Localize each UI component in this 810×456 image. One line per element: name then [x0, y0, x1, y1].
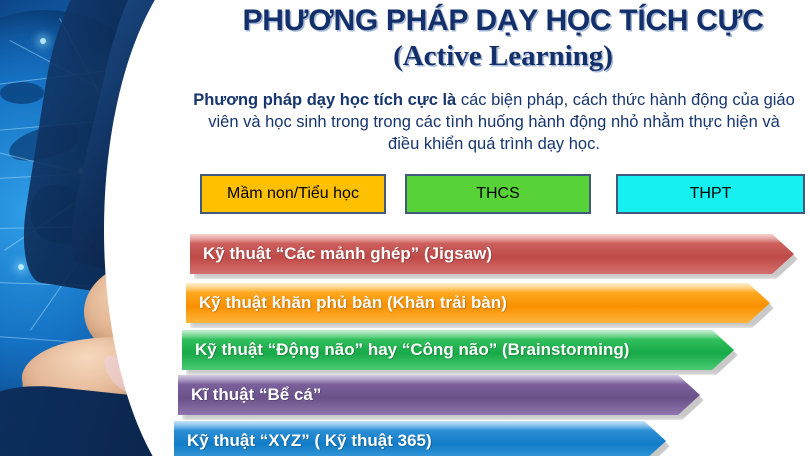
- level-box-label: Mầm non/Tiểu học: [227, 185, 359, 203]
- technique-arrow-jigsaw[interactable]: Kỹ thuật “Các mảnh ghép” (Jigsaw): [190, 234, 794, 274]
- level-box-thpt[interactable]: THPT: [616, 174, 805, 214]
- technique-arrow-be-ca[interactable]: Kĩ thuật “Bể cá”: [178, 375, 700, 415]
- level-box-mam-non-tieu-hoc[interactable]: Mầm non/Tiểu học: [200, 174, 386, 214]
- technique-arrow-xyz[interactable]: Kỹ thuật “XYZ” ( Kỹ thuật 365): [174, 421, 666, 456]
- landmass-shape: [0, 82, 44, 104]
- page-title: PHƯƠNG PHÁP DẠY HỌC TÍCH CỰC: [196, 4, 810, 38]
- technique-arrow-label: Kỹ thuật khăn phủ bàn (Khăn trải bàn): [199, 293, 507, 313]
- technique-arrow-label: Kĩ thuật “Bể cá”: [191, 385, 321, 405]
- page-subtitle: (Active Learning): [196, 40, 810, 72]
- slide-canvas: PHƯƠNG PHÁP DẠY HỌC TÍCH CỰC (Active Lea…: [0, 0, 810, 456]
- network-node: [18, 264, 24, 270]
- technique-arrow-label: Kỹ thuật “XYZ” ( Kỹ thuật 365): [187, 431, 432, 451]
- globe-handshake-photo: [0, 0, 196, 456]
- technique-arrow-label: Kỹ thuật “Động não” hay “Công não” (Brai…: [195, 340, 629, 360]
- level-box-label: THCS: [476, 185, 520, 203]
- level-box-thcs[interactable]: THCS: [405, 174, 591, 214]
- technique-arrow-label: Kỹ thuật “Các mảnh ghép” (Jigsaw): [203, 244, 492, 264]
- technique-arrow-brainstorming[interactable]: Kỹ thuật “Động não” hay “Công não” (Brai…: [182, 330, 734, 370]
- network-node: [40, 38, 46, 44]
- title-block: PHƯƠNG PHÁP DẠY HỌC TÍCH CỰC (Active Lea…: [196, 4, 810, 72]
- definition-lead-in: Phương pháp dạy học tích cực là: [193, 91, 456, 109]
- level-box-label: THPT: [690, 185, 732, 203]
- definition-paragraph: Phương pháp dạy học tích cực là các biện…: [192, 90, 796, 155]
- technique-arrow-khan-phu-ban[interactable]: Kỹ thuật khăn phủ bàn (Khăn trải bàn): [186, 283, 770, 323]
